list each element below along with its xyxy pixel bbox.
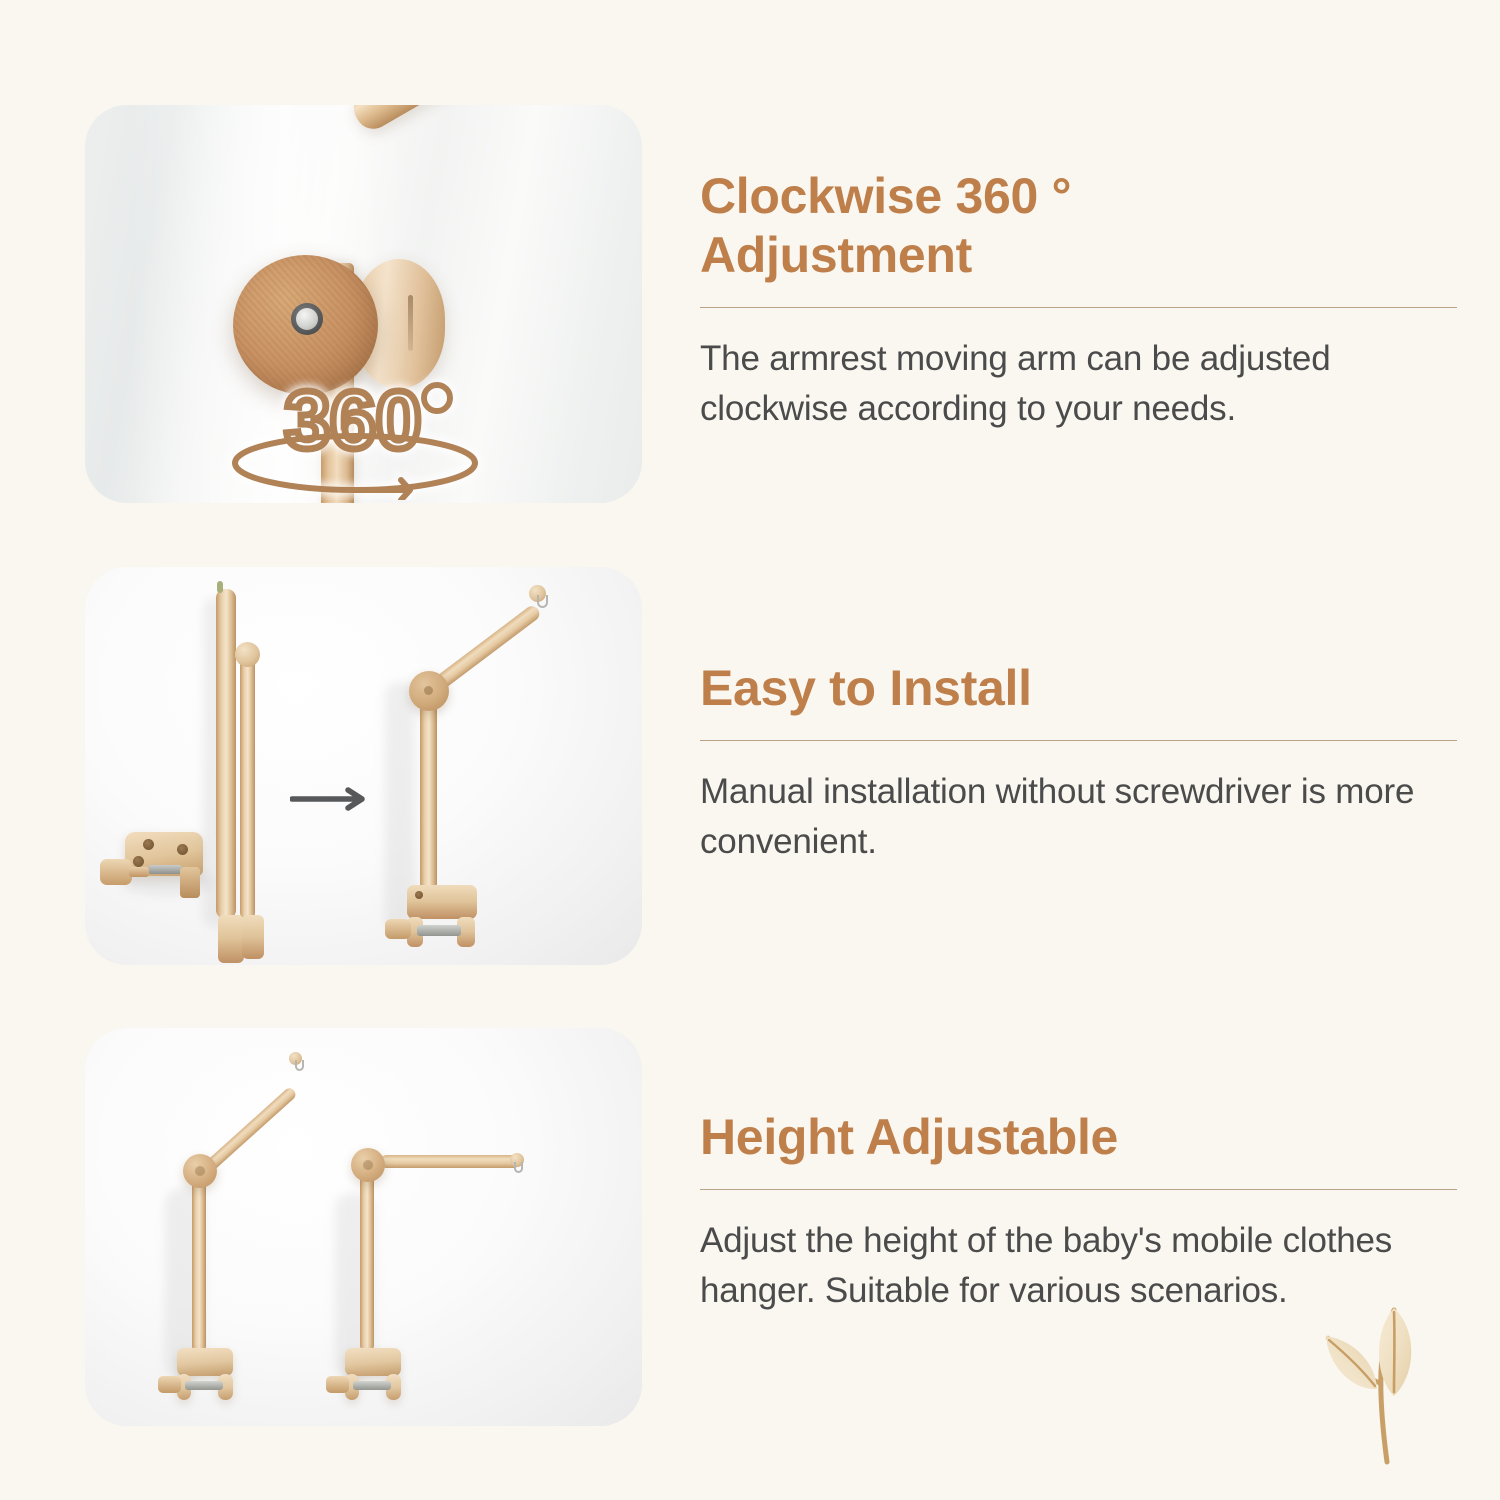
clamp-foot xyxy=(180,867,200,898)
feature-text-height-adjustable: Height Adjustable Adjust the height of t… xyxy=(700,1028,1468,1316)
feature-title: Clockwise 360 ° Adjustment xyxy=(700,167,1468,285)
right-stand-vertical-rod xyxy=(360,1172,374,1352)
right-stand-clamp-body xyxy=(345,1348,401,1376)
right-stand-horizontal-arm xyxy=(380,1155,520,1168)
assembled-clamp-knob xyxy=(385,919,411,939)
right-stand-clamp-screw xyxy=(353,1381,391,1390)
right-stand-clamp-knob xyxy=(326,1376,349,1393)
left-arm-tip-hook-icon xyxy=(295,1060,304,1071)
rotation-360-number: 360 xyxy=(285,375,422,466)
feature-text-360-adjustment: Clockwise 360 ° Adjustment The armrest m… xyxy=(700,105,1468,434)
feature-image-360-adjustment: 360 xyxy=(85,105,642,503)
rod-base-block-left xyxy=(218,915,244,963)
rotation-360-badge-icon: 360 xyxy=(205,370,505,500)
rod-tip-cap xyxy=(217,581,223,593)
clamp-hole-top xyxy=(143,839,154,850)
clamp-knob-stem xyxy=(129,867,149,877)
clamp-knob xyxy=(100,859,132,885)
left-stand-clamp-screw xyxy=(185,1381,223,1390)
left-stand-clamp-knob xyxy=(158,1376,181,1393)
feature-row-easy-install: Easy to Install Manual installation with… xyxy=(0,567,1500,967)
feature-row-height-adjustable: Height Adjustable Adjust the height of t… xyxy=(0,1028,1500,1428)
assembled-clamp-screw xyxy=(417,925,461,936)
feature-row-360-adjustment: 360 Clockwise 360 ° Adjustment The armre… xyxy=(0,105,1500,505)
feature-title: Easy to Install xyxy=(700,659,1468,718)
title-divider xyxy=(700,307,1457,308)
assembled-clamp-hole xyxy=(415,891,423,899)
left-stand-vertical-rod xyxy=(192,1178,206,1353)
wooden-rod-long xyxy=(216,589,236,919)
clamp-hole-right xyxy=(177,844,188,855)
feature-description: The armrest moving arm can be adjusted c… xyxy=(700,334,1460,434)
left-stand-clamp-body xyxy=(177,1348,233,1376)
feature-text-easy-install: Easy to Install Manual installation with… xyxy=(700,567,1468,867)
arm-tip-hook-icon xyxy=(537,595,548,608)
assembled-vertical-rod xyxy=(420,702,437,892)
title-divider xyxy=(700,740,1457,741)
right-arm-tip-hook-icon xyxy=(514,1162,523,1173)
left-pivot-mark xyxy=(195,1166,205,1176)
right-pivot-mark xyxy=(363,1160,373,1170)
pivot-center-mark xyxy=(424,686,433,695)
wooden-rod-arm xyxy=(240,655,255,920)
feature-title: Height Adjustable xyxy=(700,1108,1468,1167)
rod-end-ball xyxy=(235,642,260,667)
hub-slot xyxy=(408,295,413,351)
transform-arrow-icon xyxy=(290,785,376,813)
feature-image-height-adjustable xyxy=(85,1028,642,1426)
rod-base-block-right xyxy=(242,915,264,959)
clamp-screw-rod xyxy=(148,865,182,874)
photo-background xyxy=(85,567,642,965)
infographic-page: 360 Clockwise 360 ° Adjustment The armre… xyxy=(0,0,1500,1500)
metal-pivot-screw-head xyxy=(296,308,318,330)
title-divider xyxy=(700,1189,1457,1190)
feature-image-easy-install xyxy=(85,567,642,965)
feature-description: Adjust the height of the baby's mobile c… xyxy=(700,1216,1460,1316)
clamp-hole-left xyxy=(133,856,144,867)
feature-description: Manual installation without screwdriver … xyxy=(700,767,1460,867)
